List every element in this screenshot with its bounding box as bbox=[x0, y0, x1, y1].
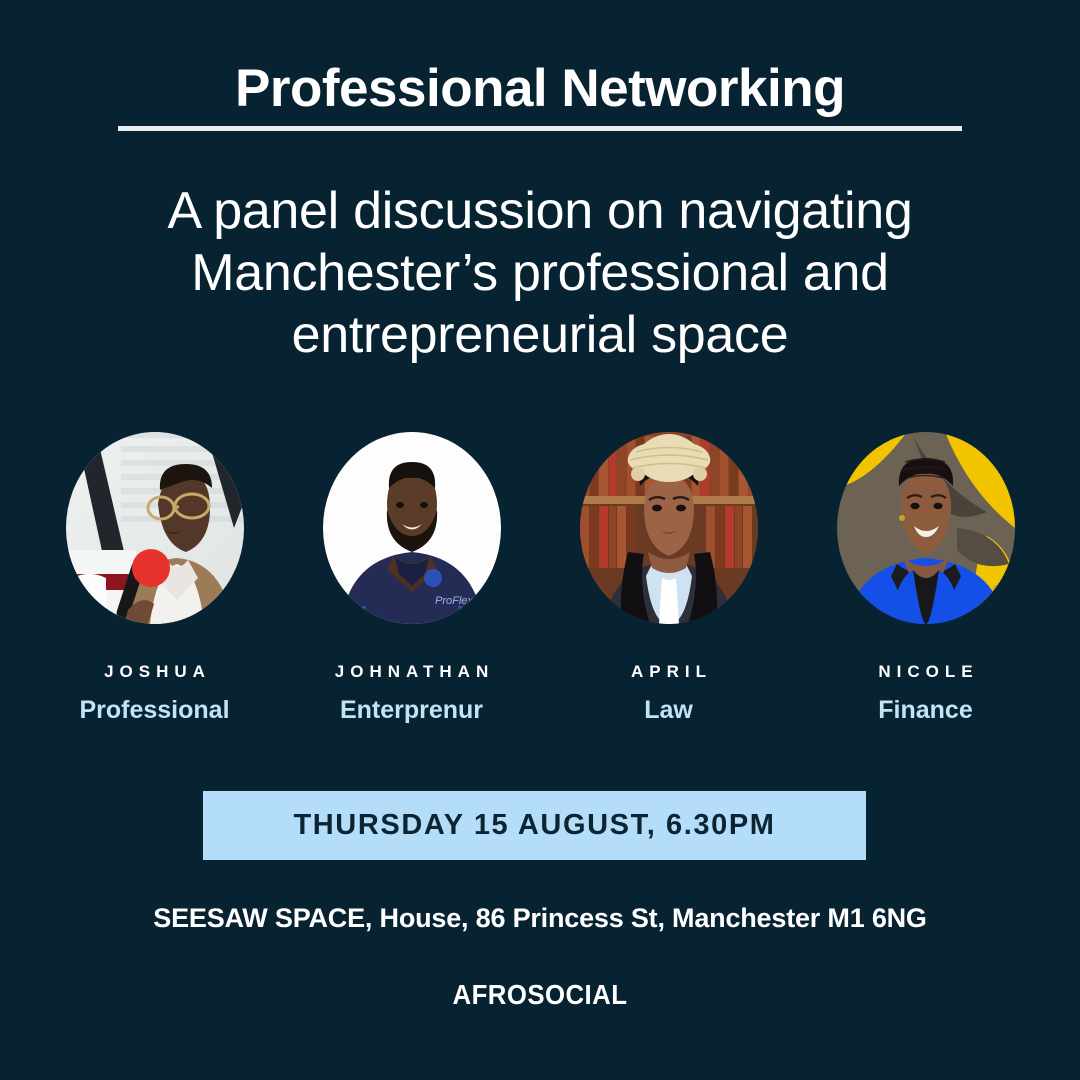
speaker-list: JOSHUA Professional bbox=[0, 432, 1080, 725]
portrait-man-glasses-microphone-image bbox=[66, 432, 244, 624]
speaker-card: ProFlex JOHNATHAN Enterprenur bbox=[283, 432, 540, 725]
speaker-name: JOSHUA bbox=[26, 662, 283, 682]
avatar: ProFlex bbox=[323, 432, 501, 624]
speaker-card: APRIL Law bbox=[540, 432, 797, 725]
portrait-man-navy-polo-image: ProFlex bbox=[323, 432, 501, 624]
brand-logo: AFROSOCIAL bbox=[43, 979, 1037, 1011]
speaker-name: APRIL bbox=[540, 662, 797, 682]
svg-text:ProFlex: ProFlex bbox=[435, 595, 473, 607]
event-address: SEESAW SPACE, House, 86 Princess St, Man… bbox=[0, 903, 1080, 934]
date-banner: THURSDAY 15 AUGUST, 6.30PM bbox=[203, 791, 866, 860]
event-datetime: THURSDAY 15 AUGUST, 6.30PM bbox=[293, 809, 775, 842]
avatar bbox=[837, 432, 1015, 624]
speaker-role: Professional bbox=[26, 696, 283, 725]
portrait-woman-barrister-wig-image bbox=[580, 432, 758, 624]
speaker-role: Finance bbox=[797, 696, 1054, 725]
speaker-role: Enterprenur bbox=[283, 696, 540, 725]
page-title: Professional Networking bbox=[0, 58, 1080, 119]
speaker-role: Law bbox=[540, 696, 797, 725]
event-poster: Professional Networking A panel discussi… bbox=[0, 0, 1080, 1080]
avatar bbox=[580, 432, 758, 624]
avatar bbox=[66, 432, 244, 624]
portrait-woman-blue-blazer-image bbox=[837, 432, 1015, 624]
speaker-card: JOSHUA Professional bbox=[26, 432, 283, 725]
speaker-name: NICOLE bbox=[797, 662, 1054, 682]
title-divider bbox=[118, 126, 962, 131]
speaker-card: NICOLE Finance bbox=[797, 432, 1054, 725]
page-subtitle: A panel discussion on navigating Manches… bbox=[90, 180, 990, 366]
speaker-name: JOHNATHAN bbox=[283, 662, 540, 682]
